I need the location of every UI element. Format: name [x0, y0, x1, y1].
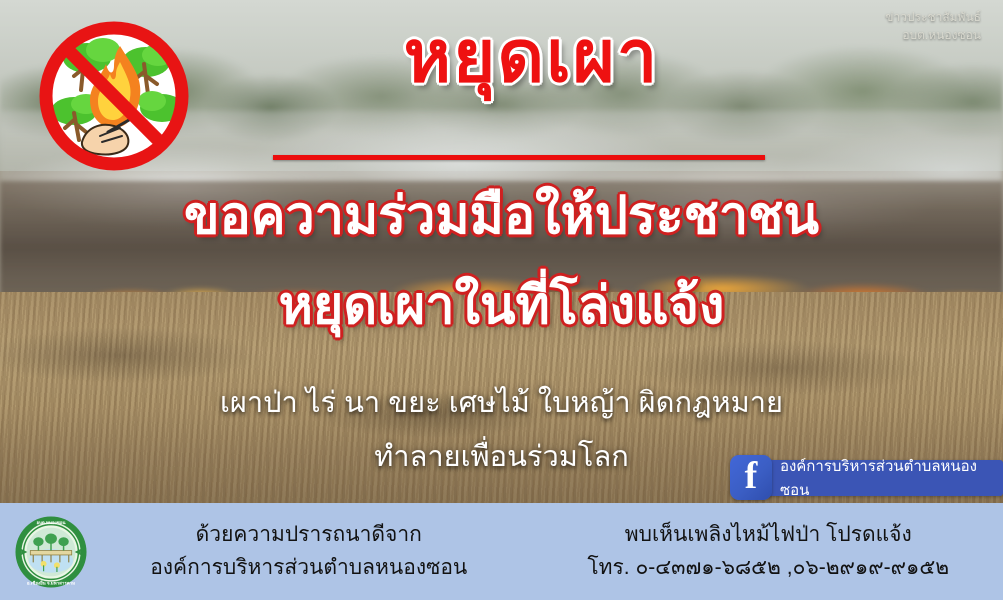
footer-right-line1: พบเห็นเพลิงไหม้ไฟป่า โปรดแจ้ง	[548, 519, 990, 552]
facebook-page-name[interactable]: องค์การบริหารส่วนตำบลหนองซอน	[764, 460, 1003, 496]
footer-left: ด้วยความปรารถนาดีจาก องค์การบริหารส่วนตำ…	[88, 519, 548, 584]
municipality-seal-icon: อบต.หนองซอน อ.เชียงยืน จ.มหาสารคาม	[14, 515, 88, 589]
footer-right: พบเห็นเพลิงไหม้ไฟป่า โปรดแจ้ง โทร. ๐-๔๓๗…	[548, 519, 1003, 584]
page-title: หยุดเผา	[0, 20, 1003, 96]
footer-bar: อบต.หนองซอน อ.เชียงยืน จ.มหาสารคาม ด้วยค…	[0, 503, 1003, 600]
facebook-icon[interactable]: f	[730, 455, 772, 500]
footer-left-line2: องค์การบริหารส่วนตำบลหนองซอน	[88, 552, 530, 585]
divider	[273, 155, 765, 160]
svg-text:อ.เชียงยืน จ.มหาสารคาม: อ.เชียงยืน จ.มหาสารคาม	[27, 579, 75, 585]
subhead-line1: ขอความร่วมมือให้ประชาชน	[0, 188, 1003, 245]
body-line1: เผาป่า ไร่ นา ขยะ เศษไม้ ใบหญ้า ผิดกฎหมา…	[0, 386, 1003, 421]
public-notice-poster: ข่าวประชาสัมพันธ์ อบต.หนองซอน	[0, 0, 1003, 600]
subhead-line2: หยุดเผาในที่โล่งแจ้ง	[0, 278, 1003, 335]
footer-left-line1: ด้วยความปรารถนาดีจาก	[88, 519, 530, 552]
svg-text:อบต.หนองซอน: อบต.หนองซอน	[36, 519, 66, 524]
facebook-badge[interactable]: f องค์การบริหารส่วนตำบลหนองซอน	[730, 455, 1003, 500]
footer-right-phone: โทร. ๐-๔๓๗๑-๖๘๕๒ ,๐๖-๒๙๑๙-๙๑๕๒	[548, 552, 990, 585]
